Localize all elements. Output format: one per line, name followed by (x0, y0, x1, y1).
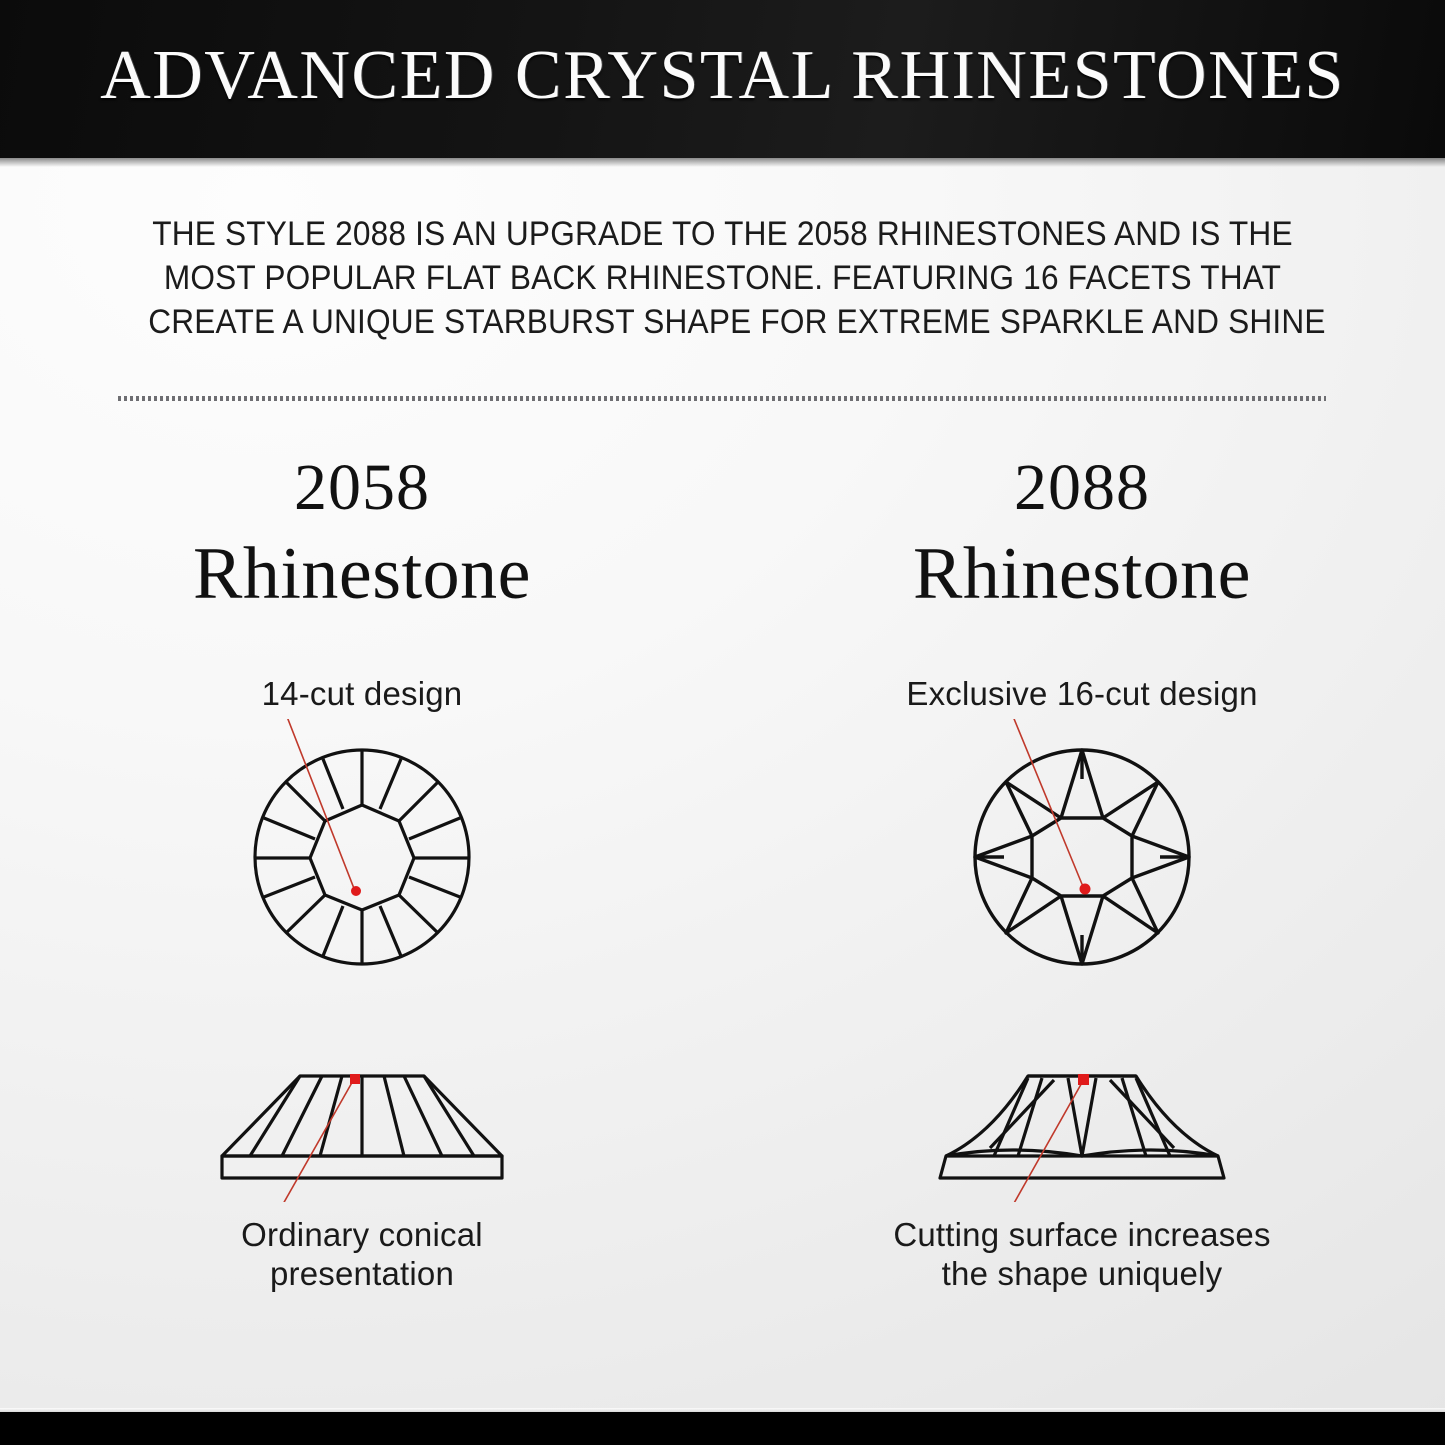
intro-paragraph: THE STYLE 2088 IS AN UPGRADE TO THE 2058… (148, 212, 1297, 345)
annotation-14-cut-design: 14-cut design (42, 675, 682, 713)
marker-dot (350, 1074, 360, 1084)
annotation-ordinary-conical-line-2: presentation (42, 1255, 682, 1294)
dotted-divider (118, 396, 1326, 401)
annotation-exclusive-16-cut-design: Exclusive 16-cut design (762, 675, 1402, 713)
marker-dot (1080, 884, 1091, 895)
intro-line-2: MOST POPULAR FLAT BACK RHINESTONE. FEATU… (148, 256, 1297, 300)
page-title: ADVANCED CRYSTAL RHINESTONES (100, 41, 1345, 117)
annotation-cutting-surface-line-2: the shape uniquely (762, 1255, 1402, 1294)
column-2058: 2058 Rhinestone 14-cut design (42, 455, 682, 1294)
column-2088-word: Rhinestone (762, 537, 1402, 611)
rhinestone-16-cut-starburst-top-view-icon (932, 719, 1232, 974)
column-2058-word: Rhinestone (42, 537, 682, 611)
figure-2088-side-view (762, 1052, 1402, 1202)
figure-2058-side-view (42, 1052, 682, 1202)
intro-line-1: THE STYLE 2088 IS AN UPGRADE TO THE 2058… (148, 212, 1297, 256)
leader-line (284, 719, 355, 891)
rhinestone-14-cut-top-view-icon (212, 719, 512, 974)
header-banner: ADVANCED CRYSTAL RHINESTONES (0, 0, 1445, 158)
intro-line-3: CREATE A UNIQUE STARBURST SHAPE FOR EXTR… (148, 300, 1297, 344)
annotation-ordinary-conical: Ordinary conical presentation (42, 1216, 682, 1294)
column-2058-number: 2058 (42, 455, 682, 521)
rhinestone-conical-side-view-icon (212, 1052, 512, 1202)
figure-2088-top-view (762, 719, 1402, 974)
marker-dot (351, 886, 361, 896)
marker-dot (1078, 1074, 1089, 1085)
footer-banner (0, 1412, 1445, 1445)
infographic-page: ADVANCED CRYSTAL RHINESTONES THE STYLE 2… (0, 0, 1445, 1445)
figure-2058-top-view (42, 719, 682, 974)
header-shadow (0, 158, 1445, 167)
leader-line (1010, 719, 1084, 889)
column-2058-title: 2058 Rhinestone (42, 455, 682, 611)
column-2088: 2088 Rhinestone Exclusive 16-cut design (762, 455, 1402, 1294)
rhinestone-faceted-side-view-icon (932, 1052, 1232, 1202)
column-2088-number: 2088 (762, 455, 1402, 521)
annotation-cutting-surface-line-1: Cutting surface increases (762, 1216, 1402, 1255)
column-2088-title: 2088 Rhinestone (762, 455, 1402, 611)
annotation-ordinary-conical-line-1: Ordinary conical (42, 1216, 682, 1255)
annotation-cutting-surface: Cutting surface increases the shape uniq… (762, 1216, 1402, 1294)
